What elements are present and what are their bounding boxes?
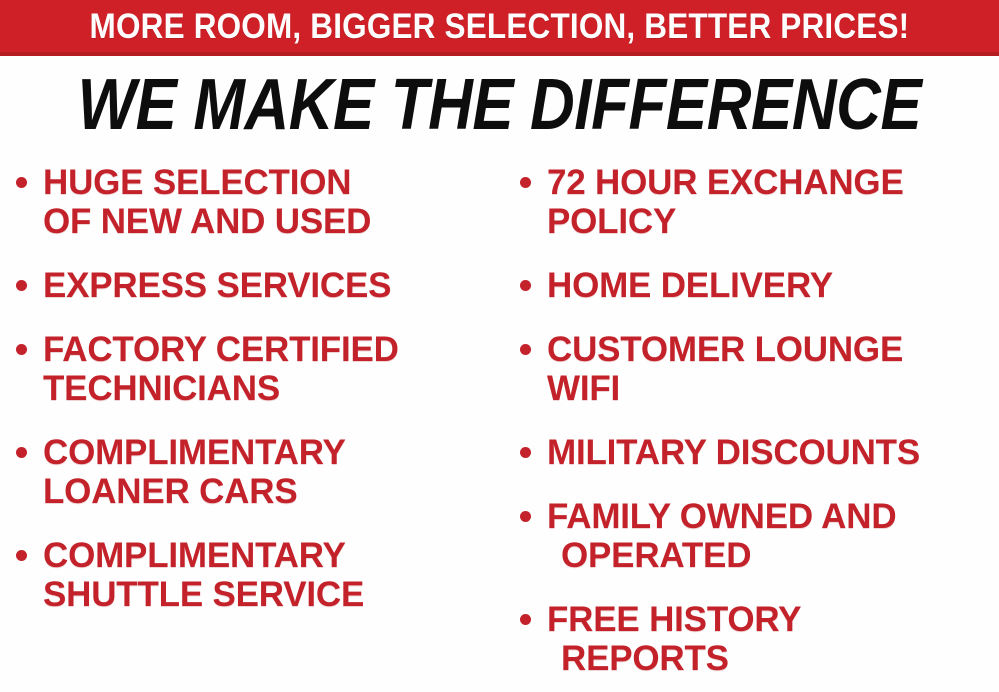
- list-item-line1: COMPLIMENTARY: [43, 433, 346, 472]
- list-item-label: 72 HOUR EXCHANGEPOLICY: [547, 163, 999, 241]
- promo-poster: MORE ROOM, BIGGER SELECTION, BETTER PRIC…: [0, 0, 999, 692]
- top-banner-text: MORE ROOM, BIGGER SELECTION, BETTER PRIC…: [90, 9, 910, 44]
- features-column-right: 72 HOUR EXCHANGEPOLICY HOME DELIVERY CUS…: [508, 155, 999, 692]
- list-item-label: CUSTOMER LOUNGEWIFI: [547, 330, 999, 408]
- list-item-line1: MILITARY DISCOUNTS: [547, 433, 920, 472]
- list-item-line1: CUSTOMER LOUNGE: [547, 330, 903, 369]
- list-item-line1: FAMILY OWNED AND: [547, 497, 896, 536]
- headline-container: WE MAKE THE DIFFERENCE: [0, 62, 999, 148]
- bullet-dot-icon: [520, 344, 531, 355]
- bullet-dot-icon: [16, 280, 27, 291]
- list-item: COMPLIMENTARYLOANER CARS: [16, 433, 508, 511]
- list-item: COMPLIMENTARYSHUTTLE SERVICE: [16, 536, 508, 614]
- list-item-line1: COMPLIMENTARY: [43, 536, 346, 575]
- list-item-line2: TECHNICIANS: [43, 369, 508, 408]
- top-banner: MORE ROOM, BIGGER SELECTION, BETTER PRIC…: [0, 0, 999, 56]
- bullet-dot-icon: [16, 447, 27, 458]
- list-item: FREE HISTORYREPORTS: [520, 600, 999, 678]
- bullet-dot-icon: [16, 550, 27, 561]
- list-item-line2: SHUTTLE SERVICE: [43, 575, 508, 614]
- list-item-line2: LOANER CARS: [43, 472, 508, 511]
- list-item-label: HOME DELIVERY: [547, 266, 999, 305]
- list-item-label: EXPRESS SERVICES: [43, 266, 508, 305]
- list-item-line2: OF NEW AND USED: [43, 202, 508, 241]
- list-item-line1: EXPRESS SERVICES: [43, 266, 391, 305]
- list-item-label: HUGE SELECTIONOF NEW AND USED: [43, 163, 508, 241]
- list-item: FACTORY CERTIFIEDTECHNICIANS: [16, 330, 508, 408]
- list-item-label: COMPLIMENTARYLOANER CARS: [43, 433, 508, 511]
- list-item-line2: OPERATED: [547, 536, 999, 575]
- features-column-left: HUGE SELECTIONOF NEW AND USED EXPRESS SE…: [0, 155, 508, 639]
- bullet-dot-icon: [520, 447, 531, 458]
- bullet-dot-icon: [520, 280, 531, 291]
- list-item: 72 HOUR EXCHANGEPOLICY: [520, 163, 999, 241]
- list-item-line1: HUGE SELECTION: [43, 163, 351, 202]
- list-item-line2: REPORTS: [547, 639, 999, 678]
- list-item-line2: POLICY: [547, 202, 999, 241]
- list-item-line1: FREE HISTORY: [547, 600, 801, 639]
- list-item-label: MILITARY DISCOUNTS: [547, 433, 999, 472]
- bullet-dot-icon: [520, 614, 531, 625]
- list-item-line1: HOME DELIVERY: [547, 266, 833, 305]
- list-item: HUGE SELECTIONOF NEW AND USED: [16, 163, 508, 241]
- bullet-dot-icon: [520, 511, 531, 522]
- list-item-line1: FACTORY CERTIFIED: [43, 330, 399, 369]
- list-item-label: FAMILY OWNED ANDOPERATED: [547, 497, 999, 575]
- features-columns: HUGE SELECTIONOF NEW AND USED EXPRESS SE…: [0, 155, 999, 692]
- list-item-line1: 72 HOUR EXCHANGE: [547, 163, 904, 202]
- bullet-dot-icon: [16, 177, 27, 188]
- bullet-dot-icon: [520, 177, 531, 188]
- page-title: WE MAKE THE DIFFERENCE: [78, 69, 922, 141]
- list-item-label: FREE HISTORYREPORTS: [547, 600, 999, 678]
- list-item: HOME DELIVERY: [520, 266, 999, 305]
- list-item: MILITARY DISCOUNTS: [520, 433, 999, 472]
- list-item: FAMILY OWNED ANDOPERATED: [520, 497, 999, 575]
- bullet-dot-icon: [16, 344, 27, 355]
- list-item-label: COMPLIMENTARYSHUTTLE SERVICE: [43, 536, 508, 614]
- list-item-label: FACTORY CERTIFIEDTECHNICIANS: [43, 330, 508, 408]
- list-item: EXPRESS SERVICES: [16, 266, 508, 305]
- list-item-line2: WIFI: [547, 369, 999, 408]
- list-item: CUSTOMER LOUNGEWIFI: [520, 330, 999, 408]
